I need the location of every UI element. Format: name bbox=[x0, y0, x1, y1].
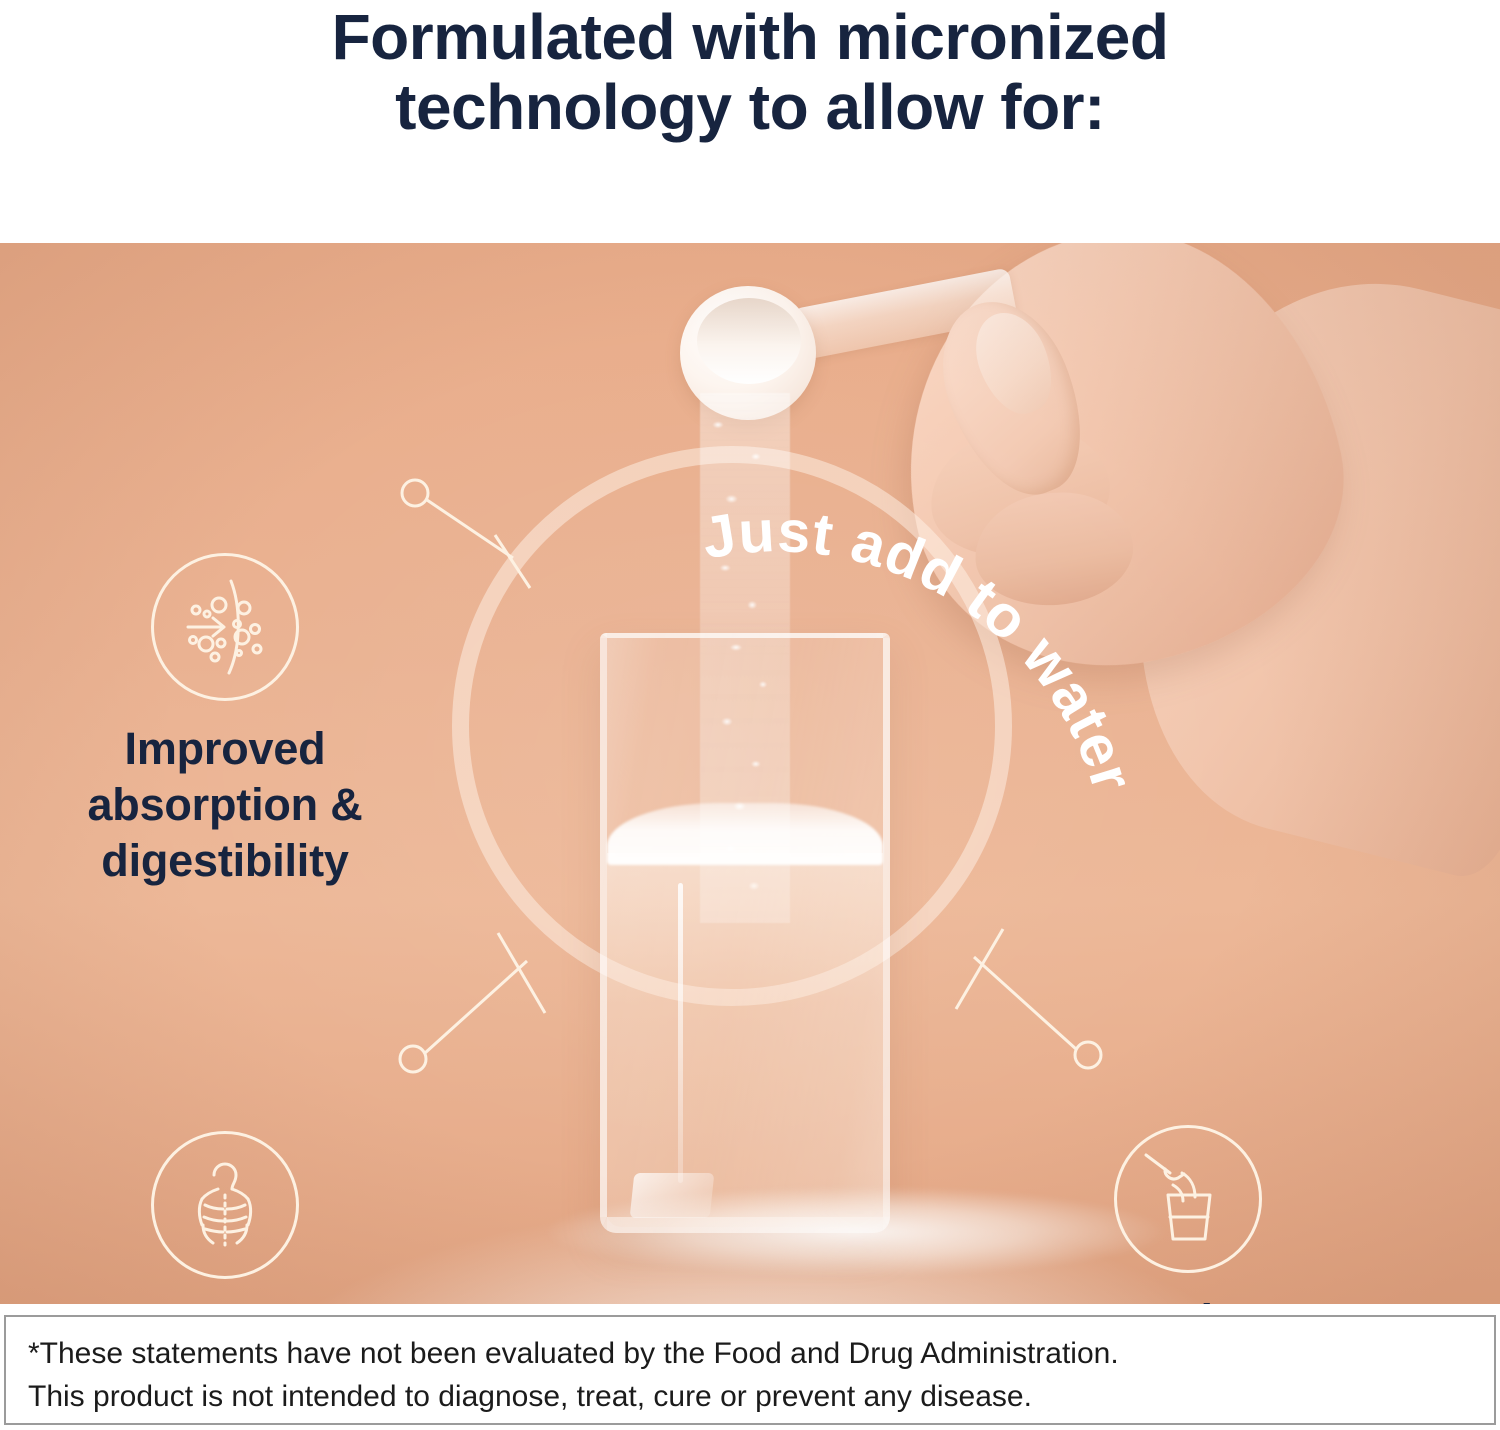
disclaimer-box: *These statements have not been evaluate… bbox=[4, 1315, 1496, 1425]
scoop-pouring-into-cup-icon bbox=[1114, 1125, 1262, 1273]
muscle-torso-icon bbox=[151, 1131, 299, 1279]
page-title: Formulated with micronized technology to… bbox=[190, 0, 1310, 143]
footer-disclaimer: *These statements have not been evaluate… bbox=[0, 1304, 1500, 1430]
feature-bioavailability: Enhanced bioavailability to targeted mus… bbox=[25, 1131, 425, 1304]
particles-through-membrane-icon bbox=[151, 553, 299, 701]
feature-absorption-label: Improved absorption & digestibility bbox=[25, 721, 425, 888]
callout-text: Just add to water bbox=[697, 498, 1146, 799]
curved-callout: Just add to water bbox=[560, 393, 1280, 1153]
header-banner: Formulated with micronized technology to… bbox=[0, 0, 1500, 243]
scoop-powder-fill bbox=[697, 298, 801, 384]
hero-product-image: Just add to water Improved absorption & … bbox=[0, 243, 1500, 1304]
feature-mixing: Easier mixing in water bbox=[1043, 1125, 1333, 1304]
feature-absorption: Improved absorption & digestibility bbox=[25, 553, 425, 888]
feature-mixing-label: Easier mixing in water bbox=[1043, 1293, 1333, 1304]
disclaimer-text: *These statements have not been evaluate… bbox=[28, 1333, 1119, 1418]
